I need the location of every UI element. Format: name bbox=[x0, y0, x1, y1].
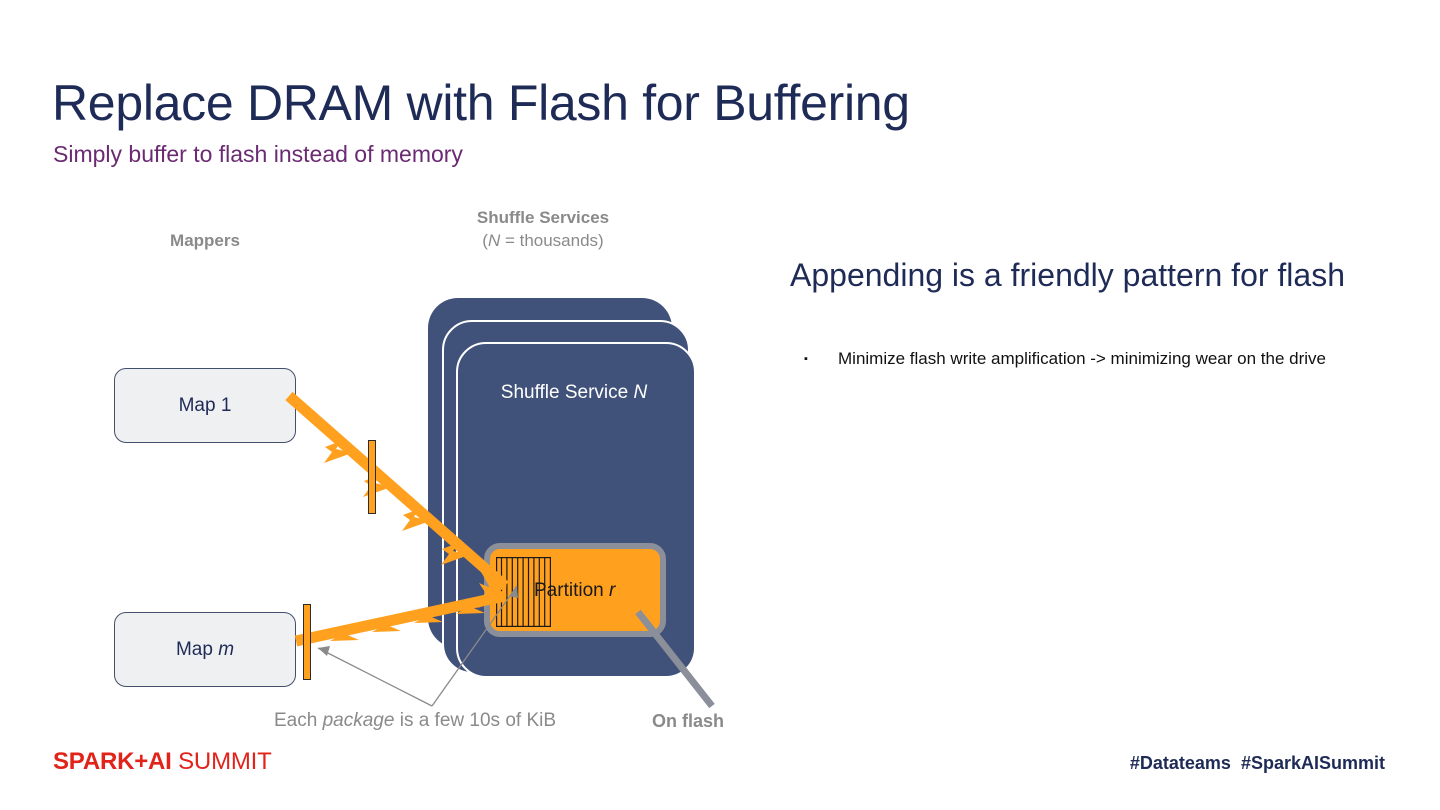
map-box-1-label: Map 1 bbox=[179, 395, 232, 417]
map-box-m: Map m bbox=[114, 612, 296, 687]
footer-hashtags: #Datateams#SparkAISummit bbox=[1120, 753, 1385, 774]
package-leader-line-left bbox=[318, 648, 432, 706]
list-item-text: Minimize flash write amplification -> mi… bbox=[838, 347, 1385, 371]
spark-ai-summit-logo: SPARK+AI SUMMIT bbox=[53, 748, 272, 776]
bullet-marker-icon: ▪ bbox=[800, 347, 838, 371]
shuffle-services-count-note: (N = thousands) bbox=[440, 229, 646, 252]
mappers-column-label: Mappers bbox=[120, 231, 290, 251]
right-panel-heading: Appending is a friendly pattern for flas… bbox=[790, 252, 1390, 298]
right-panel-bullet-list: ▪ Minimize flash write amplification -> … bbox=[800, 347, 1385, 371]
package-leader-arrowhead-left bbox=[318, 646, 330, 656]
package-bar-bottom bbox=[303, 604, 311, 680]
hashtag-sparkaisummit: #SparkAISummit bbox=[1241, 753, 1385, 773]
page-subtitle: Simply buffer to flash instead of memory bbox=[53, 139, 463, 169]
list-item: ▪ Minimize flash write amplification -> … bbox=[800, 347, 1385, 371]
map-box-1: Map 1 bbox=[114, 368, 296, 443]
slide-canvas: Replace DRAM with Flash for Buffering Si… bbox=[0, 0, 1440, 810]
map-box-m-label: Map m bbox=[176, 639, 234, 661]
logo-bold-text: SPARK+AI bbox=[53, 748, 172, 775]
package-bar-top bbox=[368, 440, 376, 514]
on-flash-caption: On flash bbox=[652, 711, 724, 732]
page-title: Replace DRAM with Flash for Buffering bbox=[52, 72, 910, 134]
shuffle-services-column-label: Shuffle Services (N = thousands) bbox=[440, 206, 646, 252]
shuffle-services-title: Shuffle Services bbox=[440, 206, 646, 229]
hashtag-datateams: #Datateams bbox=[1130, 753, 1231, 773]
package-size-caption: Each package is a few 10s of KiB bbox=[274, 710, 556, 732]
logo-light-text: SUMMIT bbox=[172, 748, 272, 775]
shuffle-service-label: Shuffle Service N bbox=[456, 382, 692, 404]
partition-label: Partition r bbox=[534, 580, 664, 602]
